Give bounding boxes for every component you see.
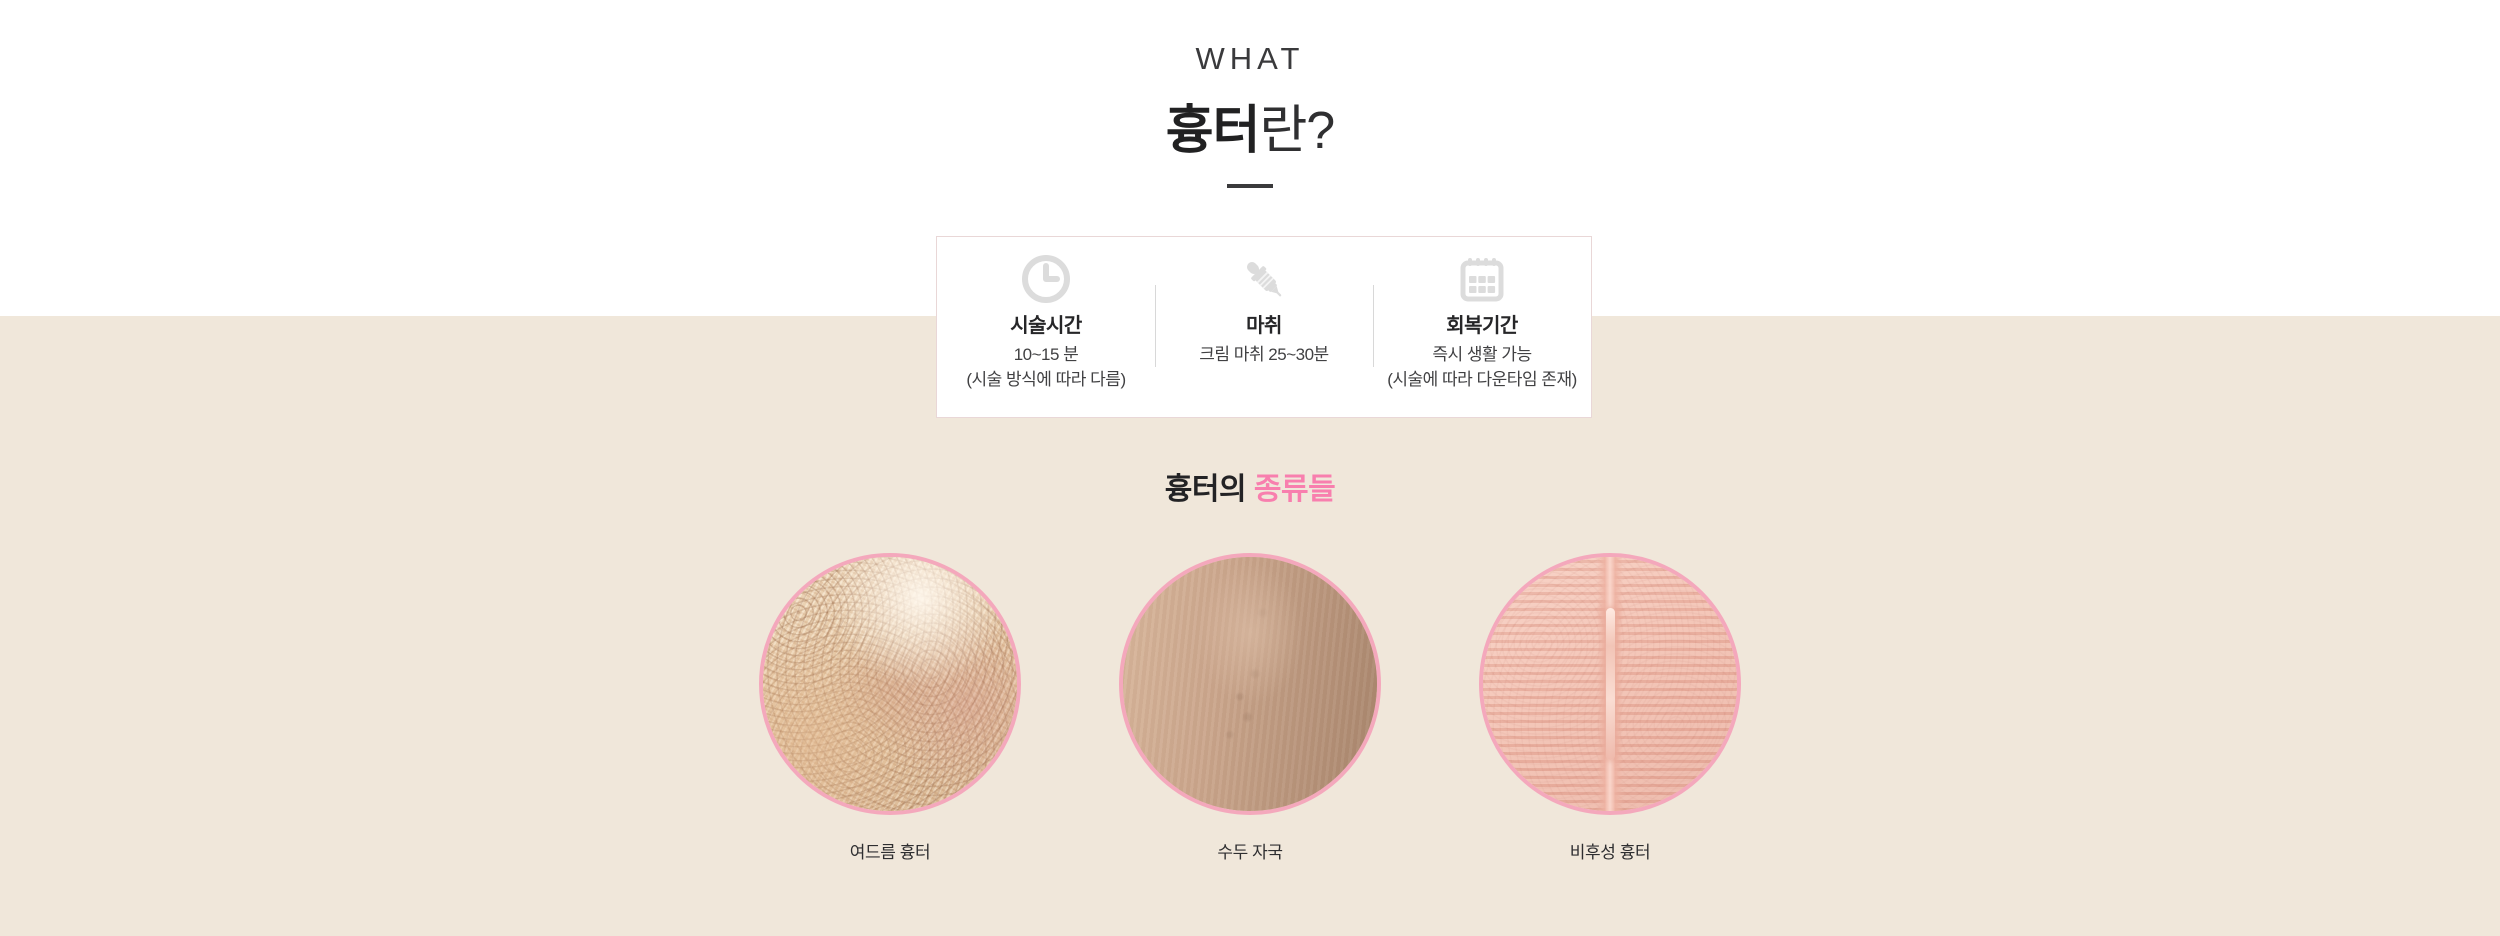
scar-type-item-chickenpox: 수두 자국 bbox=[1115, 553, 1385, 865]
acne-scar-photo bbox=[759, 553, 1021, 815]
info-label-procedure-time: 시술시간 bbox=[937, 313, 1155, 339]
info-value-anesthesia: 크림 마취 25~30분 bbox=[1155, 344, 1373, 367]
info-label-anesthesia: 마취 bbox=[1155, 313, 1373, 339]
info-value-recovery-period: 즉시 생활 가능 bbox=[1373, 344, 1591, 367]
section-header: WHAT 흉터란? bbox=[0, 0, 2500, 188]
info-value-procedure-time: 10~15 분 bbox=[937, 344, 1155, 367]
page-title-rest: 란? bbox=[1259, 102, 1334, 160]
procedure-info-card: 시술시간 10~15 분 (시술 방식에 따라 다름) bbox=[936, 236, 1592, 418]
scar-type-item-acne: 여드름 흉터 bbox=[755, 553, 1025, 865]
title-underline-rule bbox=[1227, 184, 1273, 188]
info-note-procedure-time: (시술 방식에 따라 다름) bbox=[937, 369, 1155, 392]
section-scar-types: 흉터의 종류들 여드름 흉터 수두 자국 비후 bbox=[0, 470, 2500, 865]
scar-types-heading: 흉터의 종류들 bbox=[0, 470, 2500, 509]
clock-icon bbox=[937, 253, 1155, 305]
info-column-anesthesia: 마취 크림 마취 25~30분 bbox=[1155, 237, 1373, 417]
info-column-recovery-period: 회복기간 즉시 생활 가능 (시술에 따라 다운타임 존재) bbox=[1373, 237, 1591, 417]
info-label-recovery-period: 회복기간 bbox=[1373, 313, 1591, 339]
calendar-icon bbox=[1373, 253, 1591, 305]
scar-types-heading-dark: 흉터의 bbox=[1165, 473, 1246, 506]
acne-skin-texture bbox=[763, 557, 1017, 811]
scar-type-caption-chickenpox: 수두 자국 bbox=[1115, 841, 1385, 865]
page-root: WHAT 흉터란? 시술시간 10~15 분 (시술 방식에 따라 다름) bbox=[0, 0, 2500, 936]
syringe-icon bbox=[1155, 253, 1373, 305]
eyebrow-label: WHAT bbox=[0, 0, 2500, 77]
hypertrophic-scar-photo bbox=[1479, 553, 1741, 815]
scar-types-row: 여드름 흉터 수두 자국 비후성 흉터 bbox=[0, 553, 2500, 865]
scar-type-item-hypertrophic: 비후성 흉터 bbox=[1475, 553, 1745, 865]
hypertrophic-scar-line bbox=[1606, 608, 1615, 760]
scar-types-heading-accent: 종류들 bbox=[1254, 473, 1335, 506]
chickenpox-skin-texture bbox=[1123, 557, 1377, 811]
info-note-recovery-period: (시술에 따라 다운타임 존재) bbox=[1373, 369, 1591, 392]
page-title-strong: 흉터 bbox=[1166, 102, 1260, 160]
scar-type-caption-acne: 여드름 흉터 bbox=[755, 841, 1025, 865]
scar-type-caption-hypertrophic: 비후성 흉터 bbox=[1475, 841, 1745, 865]
info-column-procedure-time: 시술시간 10~15 분 (시술 방식에 따라 다름) bbox=[937, 237, 1155, 417]
chickenpox-scar-photo bbox=[1119, 553, 1381, 815]
page-title: 흉터란? bbox=[0, 77, 2500, 164]
